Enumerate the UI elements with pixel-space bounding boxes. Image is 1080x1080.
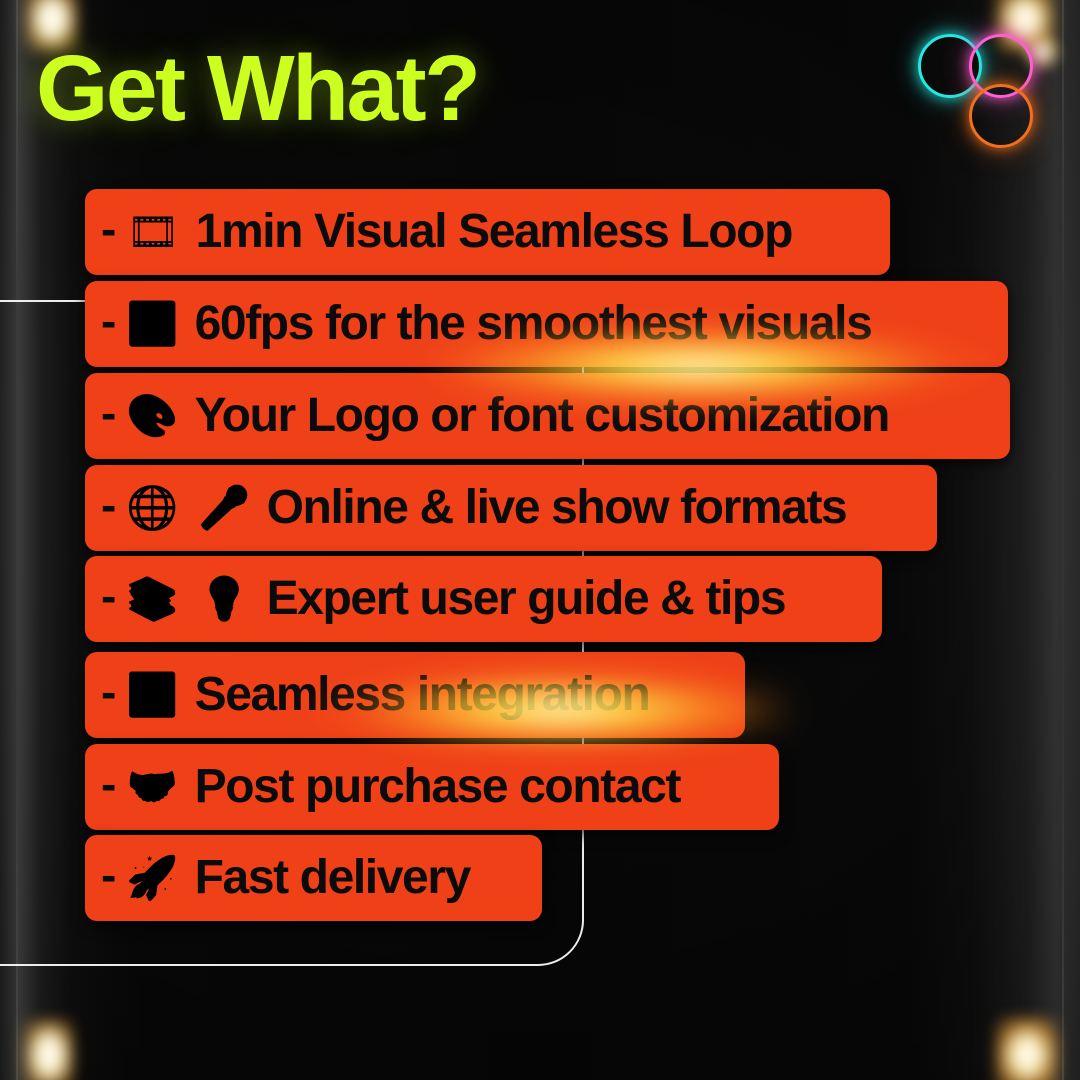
bullet-dash: - bbox=[101, 573, 116, 619]
feature-bar[interactable]: -📚 💡Expert user guide & tips bbox=[85, 556, 882, 642]
feature-bar[interactable]: -⏩60fps for the smoothest visuals bbox=[85, 281, 1008, 367]
feature-bar[interactable]: -🚀Fast delivery bbox=[85, 835, 542, 921]
bullet-dash: - bbox=[101, 852, 116, 898]
bullet-dash: - bbox=[101, 761, 116, 807]
bullet-dash: - bbox=[101, 206, 116, 252]
film-frames-icon: 🎞 bbox=[126, 211, 183, 253]
feature-label: 1min Visual Seamless Loop bbox=[196, 208, 792, 256]
feature-label: Your Logo or font customization bbox=[195, 392, 889, 440]
feature-bar[interactable]: -🤝Post purchase contact bbox=[85, 744, 779, 830]
bullet-dash: - bbox=[101, 482, 116, 528]
three-rings-logo[interactable] bbox=[918, 26, 1058, 166]
feature-label: Fast delivery bbox=[195, 854, 470, 902]
feature-bar[interactable]: -🎞1min Visual Seamless Loop bbox=[85, 189, 890, 275]
fast-forward-icon: ⏩ bbox=[126, 303, 182, 345]
bullet-dash: - bbox=[101, 669, 116, 715]
bullet-dash: - bbox=[101, 390, 116, 436]
globe-icon: 🌐 🎤 bbox=[126, 487, 254, 529]
feature-label: Post purchase contact bbox=[195, 763, 680, 811]
orange-ring-icon bbox=[969, 84, 1033, 148]
feature-bar[interactable]: -🔀Seamless integration bbox=[85, 652, 745, 738]
feature-bar[interactable]: -🌐 🎤Online & live show formats bbox=[85, 465, 937, 551]
palette-icon: 🎨 bbox=[126, 395, 182, 437]
feature-label: Expert user guide & tips bbox=[267, 575, 786, 623]
poster-canvas: Get What? -🎞1min Visual Seamless Loop-⏩6… bbox=[0, 0, 1080, 1080]
shuffle-icon: 🔀 bbox=[126, 674, 182, 716]
handshake-icon: 🤝 bbox=[126, 766, 182, 808]
feature-label: 60fps for the smoothest visuals bbox=[195, 300, 872, 348]
feature-label: Seamless integration bbox=[195, 671, 650, 719]
page-title: Get What? bbox=[36, 42, 478, 135]
books-icon: 📚 💡 bbox=[126, 578, 254, 620]
rocket-icon: 🚀 bbox=[126, 857, 182, 899]
feature-label: Online & live show formats bbox=[267, 484, 847, 532]
bullet-dash: - bbox=[101, 298, 116, 344]
feature-bar[interactable]: -🎨Your Logo or font customization bbox=[85, 373, 1010, 459]
